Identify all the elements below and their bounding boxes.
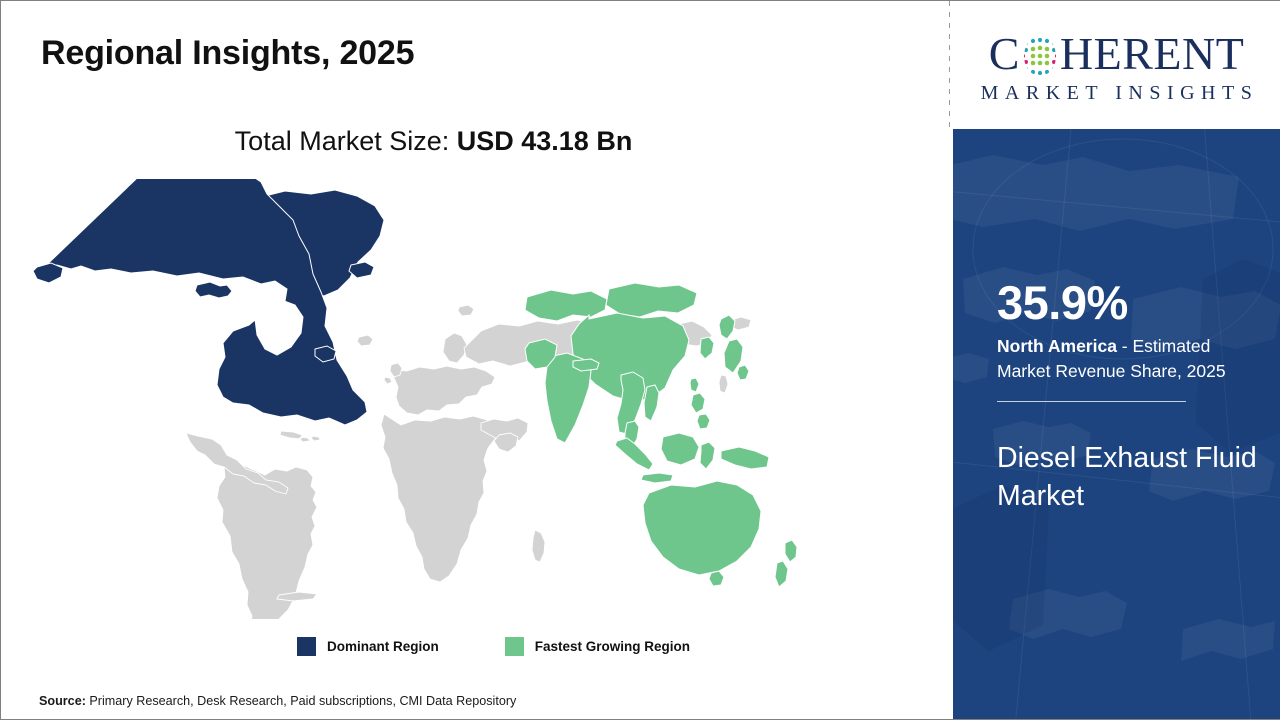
source-text: Primary Research, Desk Research, Paid su… bbox=[86, 694, 516, 708]
map-dominant-region bbox=[33, 179, 384, 425]
stat-content: 35.9% North America - Estimated Market R… bbox=[997, 279, 1259, 515]
stat-divider-rule bbox=[997, 401, 1186, 402]
market-size-label: Total Market Size: bbox=[235, 126, 457, 156]
left-content-panel: Regional Insights, 2025 Total Market Siz… bbox=[1, 1, 949, 719]
panel-divider bbox=[949, 1, 950, 129]
logo-letter-c: C bbox=[989, 31, 1020, 77]
stat-panel: 35.9% North America - Estimated Market R… bbox=[953, 129, 1280, 719]
world-map-svg bbox=[29, 179, 849, 619]
logo-letters-herent: HERENT bbox=[1060, 31, 1244, 77]
legend-label-fastest-growing: Fastest Growing Region bbox=[535, 639, 690, 654]
stat-percent-value: 35.9% bbox=[997, 279, 1259, 327]
infographic-root: Regional Insights, 2025 Total Market Siz… bbox=[0, 0, 1280, 720]
total-market-size: Total Market Size: USD 43.18 Bn bbox=[1, 126, 866, 157]
logo-tagline: MARKET INSIGHTS bbox=[967, 82, 1267, 105]
page-title: Regional Insights, 2025 bbox=[41, 34, 414, 73]
source-note: Source: Primary Research, Desk Research,… bbox=[39, 694, 516, 708]
source-label: Source: bbox=[39, 694, 86, 708]
legend-swatch-fastest-growing bbox=[505, 637, 524, 656]
legend-item-fastest-growing: Fastest Growing Region bbox=[505, 637, 690, 656]
legend-item-dominant: Dominant Region bbox=[297, 637, 439, 656]
legend-swatch-dominant bbox=[297, 637, 316, 656]
coherent-market-insights-logo: C bbox=[967, 25, 1267, 105]
legend-label-dominant: Dominant Region bbox=[327, 639, 439, 654]
stat-region-name: North America bbox=[997, 336, 1117, 356]
market-name: Diesel Exhaust Fluid Market bbox=[997, 440, 1259, 516]
market-size-value: USD 43.18 Bn bbox=[457, 126, 633, 156]
logo-wordmark: C bbox=[967, 31, 1267, 77]
world-map bbox=[29, 179, 849, 619]
map-legend: Dominant Region Fastest Growing Region bbox=[297, 637, 690, 656]
brand-logo-area: C bbox=[953, 1, 1280, 129]
stat-caption: North America - Estimated Market Revenue… bbox=[997, 334, 1259, 384]
globe-dots-icon bbox=[1021, 35, 1059, 77]
